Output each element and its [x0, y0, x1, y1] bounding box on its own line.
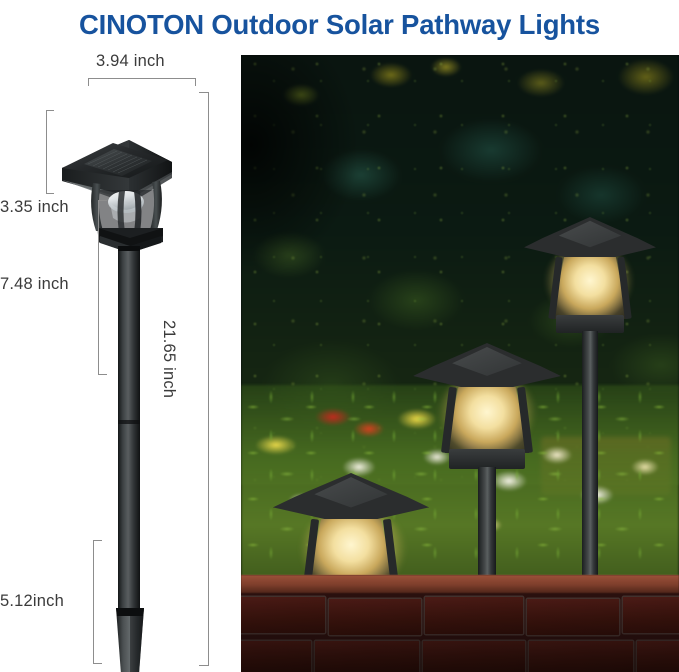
bracket-pole-height-span: [98, 200, 99, 375]
lifestyle-photo: [241, 55, 679, 672]
dimension-label-pole-height: 7.48 inch: [0, 275, 69, 294]
page-title: CINOTON Outdoor Solar Pathway Lights: [0, 0, 679, 50]
dimension-diagram-panel: 3.94 inch 3.35 inch 7.48 inch 21.65 inch…: [0, 50, 241, 672]
ground-stake: [115, 606, 144, 672]
dimension-label-total-height: 21.65 inch: [159, 320, 178, 398]
lamp-cage-back: [552, 257, 628, 319]
bracket-head-height-tick-top: [46, 110, 54, 111]
bracket-width-tick-left: [88, 78, 89, 86]
bracket-pole-height-tick-top: [98, 200, 107, 201]
lamp-base-middle: [449, 449, 525, 469]
bracket-width-span: [88, 78, 196, 79]
deep-shade-region: [241, 55, 411, 305]
bracket-stake-tick-bottom: [93, 663, 102, 664]
lamp-pole: [118, 249, 140, 611]
bracket-total-height-tick-top: [199, 92, 208, 93]
bracket-total-height-span: [208, 92, 209, 666]
product-line-drawing: [0, 50, 241, 672]
product-infographic: CINOTON Outdoor Solar Pathway Lights: [0, 0, 679, 672]
bracket-head-height-tick-bottom: [46, 193, 54, 194]
bracket-pole-height-tick-bottom: [98, 374, 107, 375]
dimension-label-head-height: 3.35 inch: [0, 198, 69, 217]
dimension-label-stake: 5.12inch: [0, 592, 64, 611]
lamp-cage-middle: [445, 387, 529, 453]
dimension-label-width: 3.94 inch: [96, 52, 165, 71]
bracket-stake-span: [93, 540, 94, 664]
bracket-stake-tick-top: [93, 540, 102, 541]
bracket-head-height-span: [46, 110, 47, 194]
bracket-total-height-tick-bottom: [199, 665, 208, 666]
bracket-width-tick-right: [195, 78, 196, 86]
brick-wall-shading: [241, 575, 679, 672]
